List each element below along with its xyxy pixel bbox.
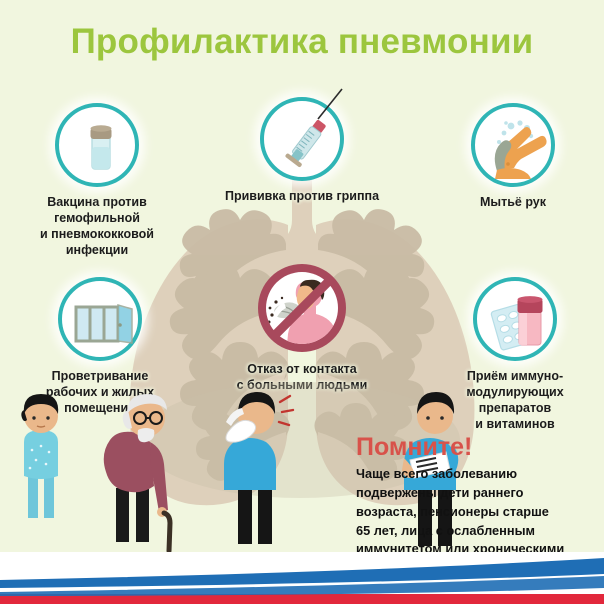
page-title: Профилактика пневмонии	[0, 22, 604, 62]
tip-label-handwashing: Мытьё рук	[428, 194, 598, 210]
vaccine-icon-ring	[55, 103, 139, 187]
no-contact-sneezing-person-icon	[256, 262, 348, 354]
vaccine-vial-icon	[59, 107, 143, 191]
syringe-icon	[264, 101, 348, 185]
tip-card-vaccine[interactable]: Вакцина против гемофильной и пневмококко…	[12, 103, 182, 258]
tip-label-ventilation: Проветривание рабочих и жилых помещений	[10, 368, 190, 416]
tip-card-no-contact[interactable]: Отказ от контакта с больными людьми	[212, 262, 392, 393]
medication-icon-ring	[473, 277, 557, 361]
tip-card-medication[interactable]: Приём иммуно- модулирующих препаратов и …	[430, 277, 600, 432]
tip-label-no-contact: Отказ от контакта с больными людьми	[212, 361, 392, 393]
pills-blister-and-bottle-icon	[477, 281, 561, 365]
tip-label-vaccine: Вакцина против гемофильной и пневмококко…	[12, 194, 182, 258]
open-window-icon	[62, 281, 146, 365]
no-contact-icon-ring	[256, 262, 348, 354]
washing-hands-icon	[475, 107, 559, 191]
flu-icon-ring	[260, 97, 344, 181]
sneezing-man-figure	[224, 392, 293, 544]
tip-card-flu[interactable]: Прививка против гриппа	[207, 97, 397, 204]
tip-label-medication: Приём иммуно- модулирующих препаратов и …	[430, 368, 600, 432]
tip-label-flu: Прививка против гриппа	[207, 188, 397, 204]
handwashing-icon-ring	[471, 103, 555, 187]
elderly-man-with-cane-figure	[104, 394, 170, 551]
russian-flag-ribbon	[0, 552, 604, 604]
remember-title: Помните!	[356, 434, 592, 460]
ventilation-icon-ring	[58, 277, 142, 361]
infographic-poster: Профилактика пневмонии Вакцина против ге…	[0, 0, 604, 604]
tip-card-ventilation[interactable]: Проветривание рабочих и жилых помещений	[10, 277, 190, 416]
tip-card-handwashing[interactable]: Мытьё рук	[428, 103, 598, 210]
